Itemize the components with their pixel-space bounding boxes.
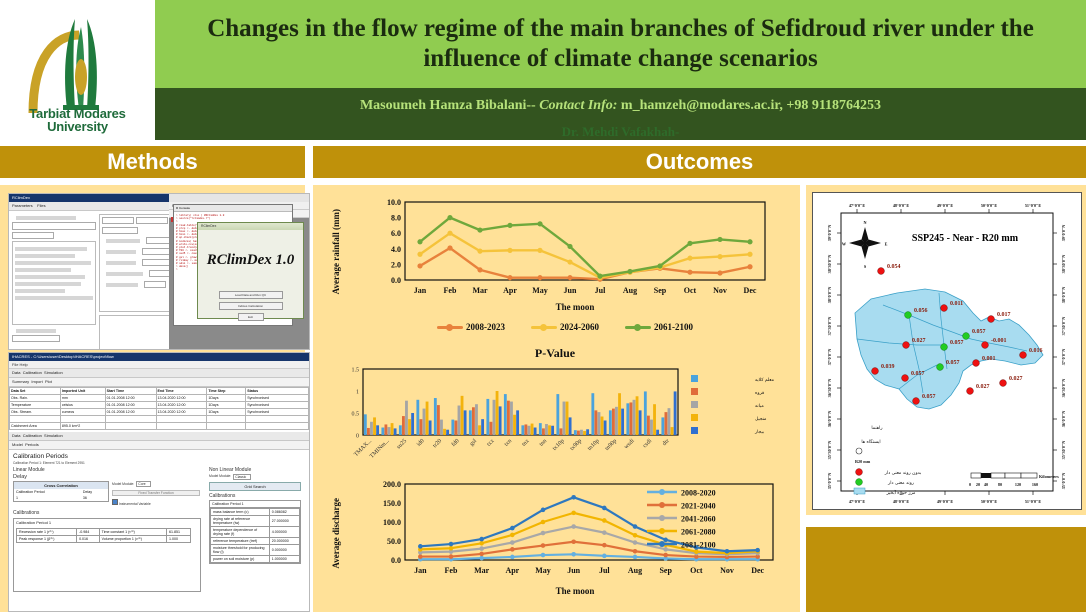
svg-text:35°0'0"N: 35°0'0"N xyxy=(1061,473,1066,490)
watershed-basin xyxy=(855,289,1043,409)
checkbox-icon xyxy=(112,499,118,505)
cell-data-set: Obs. Stream. xyxy=(10,409,61,416)
param-volume-proportion-value: 1.000 xyxy=(167,536,191,543)
svg-text:بدون روند معنی دار: بدون روند معنی دار xyxy=(884,471,921,476)
poster-root: Tarbiat Modares University Changes in th… xyxy=(0,0,1086,612)
svg-text:0: 0 xyxy=(356,434,359,440)
cell-catchment-label: Catchment Area xyxy=(10,423,61,430)
svg-text:مرز حوزه آبخیز: مرز حوزه آبخیز xyxy=(886,490,916,496)
rainfall-chart: Average rainfall (mm) 0.02.04.06.08.010.… xyxy=(325,196,785,346)
cell-status: Synchronised xyxy=(246,395,309,402)
legend-item[interactable]: 2061-2100 xyxy=(625,322,693,332)
model-module-label: Model Module: xyxy=(112,482,134,486)
svg-text:id0: id0 xyxy=(416,438,426,448)
nl-param-label: power on soil moisture (p) xyxy=(211,556,270,563)
rclimdex-app-name: RClimDex 1.0 xyxy=(198,252,303,269)
subtab-model[interactable]: Model xyxy=(12,442,23,447)
svg-text:Jan: Jan xyxy=(414,286,427,295)
legend-label: 2024-2060 xyxy=(560,322,599,332)
param-peak-response-label: Peak response 1 (β⁽¹⁾) xyxy=(17,536,77,543)
r-gui-window: File Edit View Misc Packages Windows Hel… xyxy=(169,194,309,349)
delay-heading: Delay xyxy=(13,474,205,480)
svg-text:2021-2040: 2021-2040 xyxy=(681,502,716,511)
svg-text:Feb: Feb xyxy=(445,566,458,575)
nl-param-label: mass balance term (c) xyxy=(211,509,270,516)
poster-title-band: Changes in the flow regime of the main b… xyxy=(155,0,1086,88)
svg-text:Dec: Dec xyxy=(751,566,764,575)
instrumental-variable-checkbox[interactable]: Instrumental Variable xyxy=(112,499,200,506)
tab-calibration[interactable]: Calibration xyxy=(23,370,42,375)
cell-unit: cumecs xyxy=(60,409,105,416)
map-svg: 47°0'0"E48°0'0"E49°0'0"E50°0'0"E51°0'0"E… xyxy=(813,193,1081,509)
nl-param-value: 0.000000 xyxy=(269,545,299,556)
svg-text:38°0'0"N: 38°0'0"N xyxy=(1061,287,1066,304)
svg-text:0.057: 0.057 xyxy=(922,394,936,400)
cell-data-set: Temperature xyxy=(10,402,61,409)
svg-text:36°30'0"N: 36°30'0"N xyxy=(1061,379,1066,398)
svg-text:37°0'0"N: 37°0'0"N xyxy=(827,349,832,366)
svg-text:0.016: 0.016 xyxy=(1029,348,1043,354)
cell-end: 13.04.2020 12:00 xyxy=(156,409,207,416)
svg-text:35°0'0"N: 35°0'0"N xyxy=(827,473,832,490)
tab-parameters[interactable]: Parameters xyxy=(12,203,33,208)
calibrations-heading: Calibrations xyxy=(13,510,205,516)
legend-label: 2061-2100 xyxy=(654,322,693,332)
svg-text:2061-2080: 2061-2080 xyxy=(681,528,716,537)
nl-param-label: moisture threshold for producing flow (l… xyxy=(211,545,270,556)
col-data-set: Data Set xyxy=(10,388,61,395)
calibration-period-1-label: Calibration Period 1 xyxy=(14,519,200,526)
pvalue-chart: P-Value 00.511.5 TMAX...TMINm...su25id0t… xyxy=(325,346,785,476)
svg-text:Sep: Sep xyxy=(654,286,667,295)
svg-text:0.5: 0.5 xyxy=(352,412,360,418)
svg-text:May: May xyxy=(532,286,548,295)
svg-text:36°30'0"N: 36°30'0"N xyxy=(827,379,832,398)
logo-text: Tarbiat Modares University xyxy=(13,107,143,133)
nl-param-label: temperature dependence of drying rate (f… xyxy=(211,527,270,538)
ihacres-screenshot: IHACRES - C:\Users\user\Desktop\IHACRES\… xyxy=(8,352,310,612)
param-volume-proportion-label: Volume proportion 1 (ν⁽¹⁾) xyxy=(99,536,166,543)
rclimdex-dialog-title: RClimDex xyxy=(198,223,303,230)
svg-text:0.039: 0.039 xyxy=(881,364,895,370)
legend-item[interactable]: 2008-2023 xyxy=(437,322,505,332)
svg-text:R20 mm: R20 mm xyxy=(855,459,871,464)
svg-text:May: May xyxy=(535,566,551,575)
svg-text:120: 120 xyxy=(1015,482,1021,487)
subtab-import[interactable]: Import xyxy=(31,379,42,384)
rclimdex-tabs[interactable]: Parameters Files xyxy=(9,202,169,211)
table-row: moisture threshold for producing flow (l… xyxy=(211,545,300,556)
svg-text:36°0'0"N: 36°0'0"N xyxy=(1061,411,1066,428)
discharge-plot: 0.050.0100.0150.0200.0 JanFebMarAprMayJu… xyxy=(347,478,785,588)
section-header-outcomes: Outcomes xyxy=(313,146,1086,178)
svg-text:tn90p: tn90p xyxy=(604,438,618,452)
svg-text:37°30'0"N: 37°30'0"N xyxy=(827,317,832,336)
cell-start: 01.01.2008 12:00 xyxy=(105,395,156,402)
svg-text:txx: txx xyxy=(486,438,496,448)
cell-delay: 36 xyxy=(81,495,108,501)
non-linear-module-heading: Non Linear Module xyxy=(209,467,305,473)
cell-status: Synchronised xyxy=(246,402,309,409)
delay-table: Calibration Period Delay 1 36 xyxy=(14,489,108,501)
svg-text:tx90p: tx90p xyxy=(569,438,583,452)
svg-text:0.057: 0.057 xyxy=(972,329,986,335)
svg-text:0.027: 0.027 xyxy=(912,338,926,344)
rainfall-y-axis-title: Average rainfall (mm) xyxy=(331,209,341,294)
svg-text:منجیل: منجیل xyxy=(755,417,767,422)
table-row: Recession rate 1 (r⁽¹⁾) -0.984 Time cons… xyxy=(17,529,191,536)
svg-text:میانه: میانه xyxy=(755,404,764,409)
ihacres-bottom-tabs[interactable]: Data Calibration Simulation xyxy=(9,432,309,441)
svg-text:0.027: 0.027 xyxy=(1009,376,1023,382)
logo-line-2: University xyxy=(47,119,108,134)
nl-calibration-period-label: Calibration Period 1 xyxy=(210,501,300,508)
cell-end: 13.04.2020 12:00 xyxy=(156,402,207,409)
svg-text:W: W xyxy=(842,242,847,247)
svg-text:Mar: Mar xyxy=(474,566,490,575)
calibration-periods-sub: Calibration Period 1: Element 721 to Ele… xyxy=(13,461,309,465)
author-supervisor: Dr. Mehdi Vafakhah- xyxy=(155,124,1086,139)
svg-text:راهنما: راهنما xyxy=(871,426,882,431)
map-scale-bar: Kilometers 0204080120160 xyxy=(969,473,1059,487)
svg-text:wsdi: wsdi xyxy=(623,438,635,450)
linear-params-table: Recession rate 1 (r⁽¹⁾) -0.984 Time cons… xyxy=(16,528,191,543)
cell-unit: celsius xyxy=(60,402,105,409)
svg-text:2.0: 2.0 xyxy=(391,260,401,269)
cell-start: 01.01.2008 12:00 xyxy=(105,402,156,409)
svg-text:2041-2060: 2041-2060 xyxy=(681,515,716,524)
svg-text:Aug: Aug xyxy=(623,286,637,295)
svg-text:-0.001: -0.001 xyxy=(991,338,1007,344)
param-time-constant-label: Time constant 1 (τ⁽¹⁾) xyxy=(99,529,166,536)
svg-text:50°0'0"E: 50°0'0"E xyxy=(981,499,998,504)
cell-end: 13.04.2020 12:00 xyxy=(156,395,207,402)
svg-text:بیجار: بیجار xyxy=(754,430,764,435)
compass-rose-icon: N S E W xyxy=(842,220,888,269)
cell-catchment-value: 895.0 km^2 xyxy=(60,423,105,430)
nl-model-module-value[interactable]: Classic xyxy=(233,474,251,480)
svg-text:tnx: tnx xyxy=(521,438,531,448)
svg-text:38°30'0"N: 38°30'0"N xyxy=(827,255,832,274)
svg-text:38°30'0"N: 38°30'0"N xyxy=(1061,255,1066,274)
svg-text:Feb: Feb xyxy=(444,286,457,295)
linear-module-heading: Linear Module xyxy=(13,467,205,473)
svg-text:49°0'0"E: 49°0'0"E xyxy=(937,499,954,504)
svg-text:Jun: Jun xyxy=(567,566,580,575)
svg-text:47°0'0"E: 47°0'0"E xyxy=(849,203,866,208)
col-status: Status xyxy=(246,388,309,395)
svg-text:160: 160 xyxy=(1032,482,1038,487)
indices-calculation-button[interactable]: Indices Calculation xyxy=(219,302,283,310)
legend-item[interactable]: 2024-2060 xyxy=(531,322,599,332)
nl-model-module-selector[interactable]: Model Module: Classic xyxy=(209,474,305,480)
nl-param-label: reference temperature (tref) xyxy=(211,538,270,545)
svg-text:fd0: fd0 xyxy=(450,437,461,448)
svg-text:TMINm...: TMINm... xyxy=(369,438,391,460)
subtab-plot[interactable]: Plot xyxy=(45,379,52,384)
svg-text:4.0: 4.0 xyxy=(391,245,401,254)
svg-text:Apr: Apr xyxy=(503,286,517,295)
rainfall-plot: 0.02.04.06.08.010.0 JanFebMarAprMayJunJu… xyxy=(347,196,777,308)
cell-start: 01.01.2008 12:00 xyxy=(105,409,156,416)
svg-text:150.0: 150.0 xyxy=(383,499,401,508)
legend-swatch xyxy=(531,326,557,329)
col-start-time: Start Time xyxy=(105,388,156,395)
fixed-transfer-function-button[interactable]: Fixed Transfer Function xyxy=(112,490,200,496)
svg-text:2081-2100: 2081-2100 xyxy=(681,541,716,550)
svg-text:tr20: tr20 xyxy=(432,438,443,449)
svg-text:Jan: Jan xyxy=(414,566,427,575)
svg-text:51°0'0"E: 51°0'0"E xyxy=(1025,499,1042,504)
tab-data[interactable]: Data xyxy=(12,370,20,375)
rclimdex-screenshot: RClimDex Parameters Files xyxy=(8,193,310,350)
svg-text:48°0'0"E: 48°0'0"E xyxy=(893,203,910,208)
svg-text:Aug: Aug xyxy=(628,566,642,575)
nl-model-module-label: Model Module: xyxy=(209,474,231,480)
cell-unit: mm xyxy=(60,395,105,402)
nl-param-value: 4.000000 xyxy=(269,527,299,538)
svg-text:Apr: Apr xyxy=(505,566,519,575)
svg-text:50°0'0"E: 50°0'0"E xyxy=(981,203,998,208)
svg-text:Nov: Nov xyxy=(720,566,734,575)
svg-text:1.5: 1.5 xyxy=(352,368,360,374)
param-peak-response-value: 0.016 xyxy=(77,536,100,543)
svg-text:48°0'0"E: 48°0'0"E xyxy=(893,499,910,504)
svg-text:49°0'0"E: 49°0'0"E xyxy=(937,203,954,208)
nl-param-value: 1.000000 xyxy=(269,556,299,563)
param-time-constant-value: 61.851 xyxy=(167,529,191,536)
table-row: power on soil moisture (p) 1.000000 xyxy=(211,556,300,563)
ihacres-model-tabs[interactable]: Model Periods xyxy=(9,441,309,450)
cell-data-set: Obs. Rain. xyxy=(10,395,61,402)
subtab-periods[interactable]: Periods xyxy=(25,442,39,447)
svg-text:dtr: dtr xyxy=(662,438,671,447)
svg-text:Kilometers: Kilometers xyxy=(1039,474,1059,479)
authors-band: Masoumeh Hamza Bibalani-- Contact Info: … xyxy=(155,88,1086,140)
svg-text:su25: su25 xyxy=(396,438,408,450)
author-name: Masoumeh Hamza Bibalani-- xyxy=(360,98,536,113)
svg-text:0.057: 0.057 xyxy=(946,360,960,366)
svg-text:tn10p: tn10p xyxy=(587,438,601,452)
table-row[interactable]: Temperature celsius 01.01.2008 12:00 13.… xyxy=(10,402,309,409)
svg-text:51°0'0"E: 51°0'0"E xyxy=(1025,203,1042,208)
svg-text:37°30'0"N: 37°30'0"N xyxy=(1061,317,1066,336)
svg-text:Jul: Jul xyxy=(595,286,606,295)
map-legend: راهنما ایستگاه ها R20 mm بدون روند معنی … xyxy=(854,426,921,496)
cross-correlation-button[interactable]: Cross Correlation xyxy=(14,482,108,489)
table-row: drying rate at reference temperature (tw… xyxy=(211,516,300,527)
svg-text:0.011: 0.011 xyxy=(950,301,963,307)
ihacres-top-tabs[interactable]: Data Calibration Simulation xyxy=(9,369,309,378)
model-module-value[interactable]: Core xyxy=(136,481,150,487)
calibration-periods-heading: Calibration Periods xyxy=(13,453,309,460)
cell-period: 1 xyxy=(14,495,81,501)
col-end-time: End Time xyxy=(156,388,207,395)
cell-step: 1Days xyxy=(207,402,246,409)
exit-button[interactable]: Exit xyxy=(238,313,264,321)
svg-text:روند معنی دار: روند معنی دار xyxy=(887,481,914,486)
svg-text:8.0: 8.0 xyxy=(391,214,401,223)
svg-text:0.056: 0.056 xyxy=(914,308,928,314)
map-figure: 47°0'0"E48°0'0"E49°0'0"E50°0'0"E51°0'0"E… xyxy=(812,192,1082,510)
author-contact-line: Masoumeh Hamza Bibalani-- Contact Info: … xyxy=(155,97,1086,114)
section-header-methods: Methods xyxy=(0,146,305,178)
svg-text:Oct: Oct xyxy=(690,566,703,575)
svg-text:0.0: 0.0 xyxy=(391,276,401,285)
legend-label: 2008-2023 xyxy=(466,322,505,332)
footer-gold-block xyxy=(806,527,1086,612)
table-row[interactable]: Obs. Stream. cumecs 01.01.2008 12:00 13.… xyxy=(10,409,309,416)
non-linear-params-table: mass balance term (c) 0.086082 drying ra… xyxy=(210,508,300,563)
cell-step: 1Days xyxy=(207,395,246,402)
rclimdex-dialog: RClimDex RClimDex 1.0 Load Data and Run … xyxy=(197,222,304,319)
contact-value[interactable]: m_hamzeh@modares.ac.ir, +98 9118764253 xyxy=(621,98,881,113)
nl-param-label: drying rate at reference temperature (tw… xyxy=(211,516,270,527)
cell-step: 1Days xyxy=(207,409,246,416)
svg-text:0.054: 0.054 xyxy=(887,264,901,270)
svg-text:50.0: 50.0 xyxy=(387,537,401,546)
svg-text:0: 0 xyxy=(969,482,971,487)
table-row: mass balance term (c) 0.086082 xyxy=(211,509,300,516)
svg-text:Mar: Mar xyxy=(472,286,488,295)
svg-text:39°0'0"N: 39°0'0"N xyxy=(827,225,832,242)
r-console-title: R Console xyxy=(174,205,292,212)
legend-swatch xyxy=(437,326,463,329)
svg-text:100.0: 100.0 xyxy=(383,518,401,527)
nl-param-value: 0.086082 xyxy=(269,509,299,516)
pvalue-plot: 00.511.5 TMAX...TMINm...su25id0tr20fd0gs… xyxy=(325,363,785,475)
svg-text:0.027: 0.027 xyxy=(976,384,990,390)
svg-text:Dec: Dec xyxy=(744,286,757,295)
svg-text:20: 20 xyxy=(976,482,980,487)
col-time-step: Time Step xyxy=(207,388,246,395)
svg-text:tx10p: tx10p xyxy=(552,438,566,452)
svg-text:معلم کلایه: معلم کلایه xyxy=(755,377,775,383)
model-module-selector[interactable]: Model Module: Core xyxy=(112,481,200,487)
svg-text:0.0: 0.0 xyxy=(391,556,401,565)
page-title: Changes in the flow regime of the main b… xyxy=(155,14,1086,74)
table-header-row: Data Set Imported Unit Start Time End Ti… xyxy=(10,388,309,395)
svg-text:38°0'0"N: 38°0'0"N xyxy=(827,287,832,304)
svg-text:0.017: 0.017 xyxy=(997,312,1011,318)
svg-text:10.0: 10.0 xyxy=(387,198,401,207)
svg-text:35°30'0"N: 35°30'0"N xyxy=(1061,441,1066,460)
svg-text:36°0'0"N: 36°0'0"N xyxy=(827,411,832,428)
svg-text:6.0: 6.0 xyxy=(391,229,401,238)
svg-text:47°0'0"E: 47°0'0"E xyxy=(849,499,866,504)
svg-text:Jun: Jun xyxy=(564,286,577,295)
table-row-empty xyxy=(10,416,309,423)
svg-text:1: 1 xyxy=(356,390,359,396)
tab-files[interactable]: Files xyxy=(37,203,45,208)
nl-calibrations-heading: Calibrations xyxy=(209,493,305,499)
table-row: temperature dependence of drying rate (f… xyxy=(211,527,300,538)
svg-text:39°0'0"N: 39°0'0"N xyxy=(1061,225,1066,242)
university-logo: Tarbiat Modares University xyxy=(0,0,155,140)
param-recession-rate-value: -0.984 xyxy=(77,529,100,536)
rainfall-legend: 2008-2023 2024-2060 2061-2100 xyxy=(345,322,785,332)
svg-text:0.057: 0.057 xyxy=(911,371,925,377)
btab-data[interactable]: Data xyxy=(12,433,20,438)
svg-text:0.001: 0.001 xyxy=(982,356,996,362)
ihacres-window-title: IHACRES - C:\Users\user\Desktop\IHACRES\… xyxy=(9,353,309,361)
nl-param-value: 20.000000 xyxy=(269,538,299,545)
dataset-table: Data Set Imported Unit Start Time End Ti… xyxy=(9,387,309,430)
discharge-chart: Average discharge 0.050.0100.0150.0200.0… xyxy=(325,478,785,608)
svg-text:tnn: tnn xyxy=(538,438,548,448)
cell-status: Synchronised xyxy=(246,409,309,416)
svg-text:Sep: Sep xyxy=(659,566,672,575)
svg-text:80: 80 xyxy=(998,482,1002,487)
svg-text:40: 40 xyxy=(984,482,988,487)
rclimdex-window-title: RClimDex xyxy=(9,194,169,202)
btab-calibration[interactable]: Calibration xyxy=(23,433,42,438)
pvalue-chart-title: P-Value xyxy=(325,346,785,361)
svg-text:ایستگاه ها: ایستگاه ها xyxy=(861,438,880,445)
svg-text:2008-2020: 2008-2020 xyxy=(681,489,716,498)
svg-text:Nov: Nov xyxy=(713,286,727,295)
ihacres-menu-bar[interactable]: File Help xyxy=(9,361,309,369)
ihacres-sub-tabs[interactable]: Summary Import Plot xyxy=(9,378,309,387)
param-recession-rate-label: Recession rate 1 (r⁽¹⁾) xyxy=(17,529,77,536)
contact-label: Contact Info: xyxy=(539,98,617,113)
col-imported-unit: Imported Unit xyxy=(60,388,105,395)
subtab-summary[interactable]: Summary xyxy=(12,379,29,384)
svg-text:E: E xyxy=(885,242,888,247)
svg-text:gsl: gsl xyxy=(469,438,478,447)
svg-text:S: S xyxy=(864,264,867,269)
svg-text:N: N xyxy=(863,220,866,225)
table-row: reference temperature (tref) 20.000000 xyxy=(211,538,300,545)
svg-text:txn: txn xyxy=(503,438,513,448)
btab-simulation[interactable]: Simulation xyxy=(44,433,63,438)
discharge-y-axis-title: Average discharge xyxy=(331,498,341,569)
tab-simulation[interactable]: Simulation xyxy=(44,370,63,375)
table-row-catchment: Catchment Area 895.0 km^2 xyxy=(10,423,309,430)
svg-text:200.0: 200.0 xyxy=(383,480,401,489)
load-data-qc-button[interactable]: Load Data and Run QC xyxy=(219,291,283,299)
nl-param-value: 27.000000 xyxy=(269,516,299,527)
svg-text:Oct: Oct xyxy=(684,286,697,295)
instrumental-variable-label: Instrumental Variable xyxy=(119,502,151,506)
svg-text:csdi: csdi xyxy=(642,438,653,449)
legend-swatch xyxy=(625,326,651,329)
svg-text:35°30'0"N: 35°30'0"N xyxy=(827,441,832,460)
table-row[interactable]: Obs. Rain. mm 01.01.2008 12:00 13.04.202… xyxy=(10,395,309,402)
svg-text:37°0'0"N: 37°0'0"N xyxy=(1061,349,1066,366)
svg-text:Jul: Jul xyxy=(599,566,610,575)
table-row: Peak response 1 (β⁽¹⁾) 0.016 Volume prop… xyxy=(17,536,191,543)
map-title: SSP245 - Near - R20 mm xyxy=(912,233,1019,244)
svg-text:0.057: 0.057 xyxy=(950,340,964,346)
grid-search-button[interactable]: Grid Search xyxy=(209,482,301,491)
svg-text:قروه: قروه xyxy=(755,391,764,396)
